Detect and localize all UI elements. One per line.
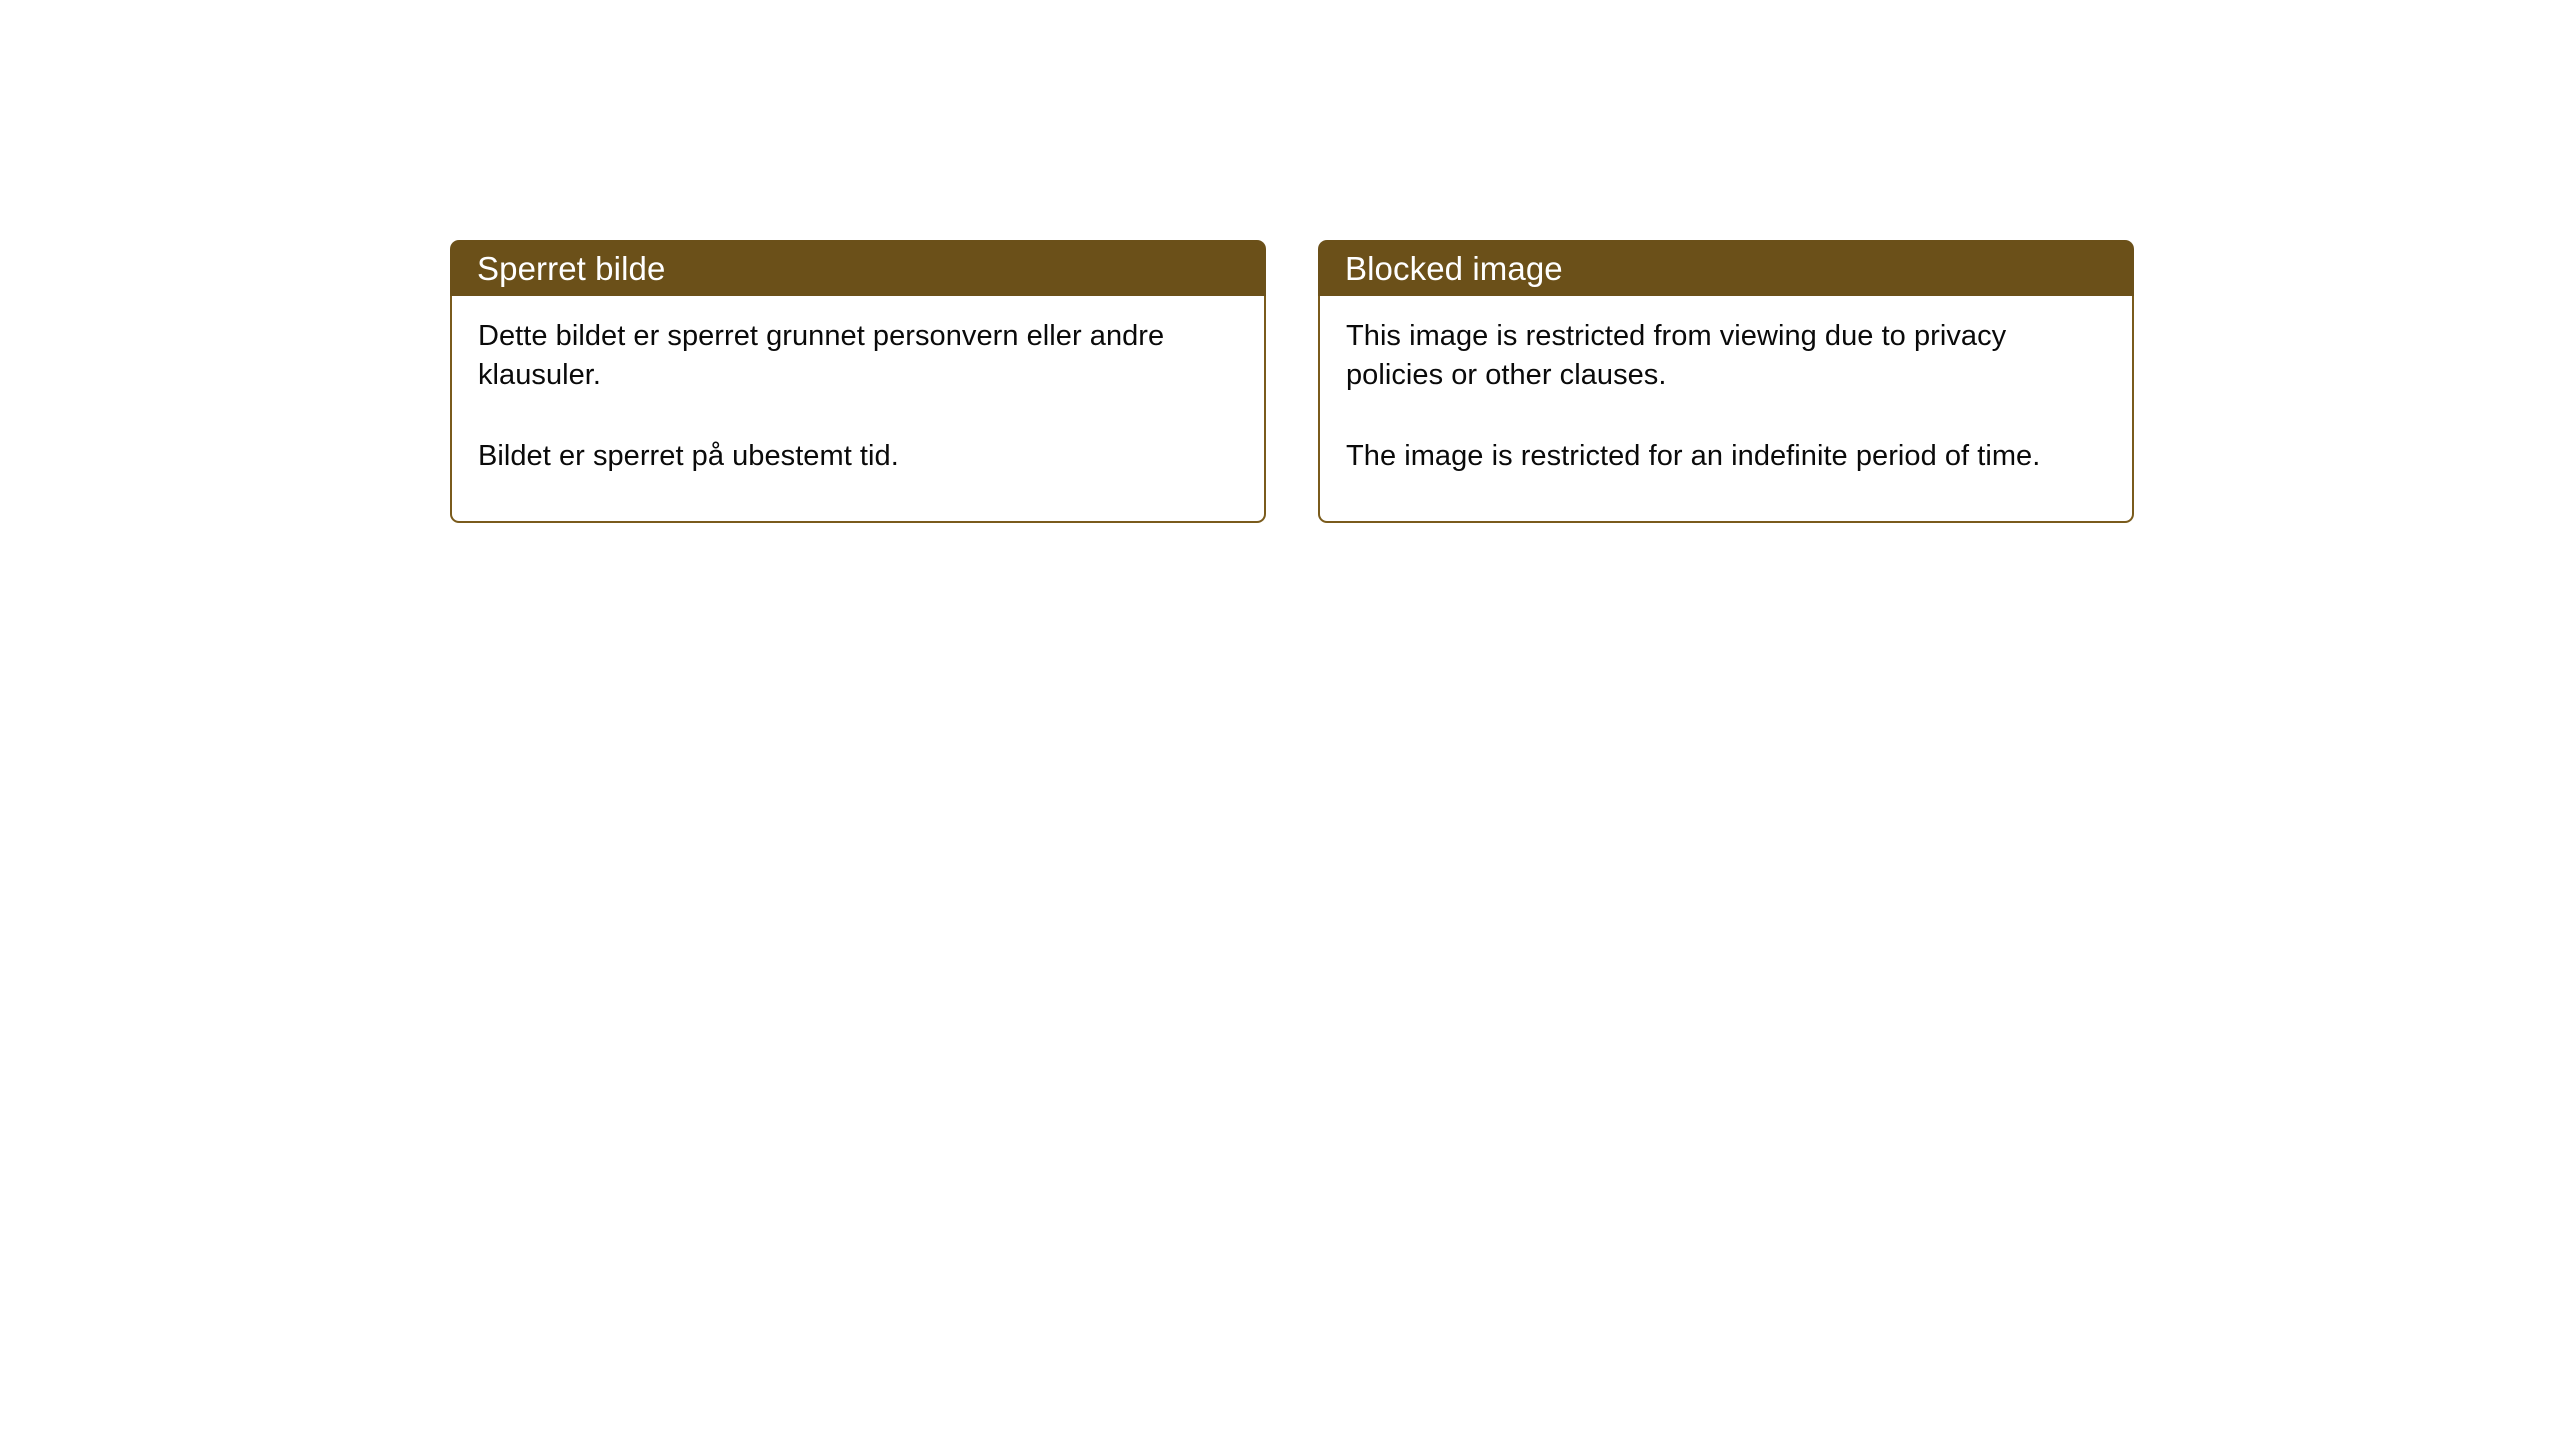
card-paragraph-secondary-norwegian: Bildet er sperret på ubestemt tid. <box>478 437 1238 476</box>
card-paragraph-secondary-english: The image is restricted for an indefinit… <box>1346 437 2106 476</box>
blocked-image-card-english: Blocked image This image is restricted f… <box>1318 240 2134 524</box>
card-paragraph-primary-english: This image is restricted from viewing du… <box>1346 317 2106 394</box>
blocked-image-notice-area: Sperret bilde Dette bildet er sperret gr… <box>450 240 2134 524</box>
blocked-image-card-norwegian: Sperret bilde Dette bildet er sperret gr… <box>450 240 1266 524</box>
card-title-english: Blocked image <box>1345 252 1563 285</box>
card-body-english: This image is restricted from viewing du… <box>1318 295 2134 523</box>
card-body-norwegian: Dette bildet er sperret grunnet personve… <box>450 295 1266 523</box>
card-title-norwegian: Sperret bilde <box>477 252 665 285</box>
card-paragraph-primary-norwegian: Dette bildet er sperret grunnet personve… <box>478 317 1238 394</box>
card-header-english: Blocked image <box>1318 240 2134 296</box>
card-header-norwegian: Sperret bilde <box>450 240 1266 296</box>
